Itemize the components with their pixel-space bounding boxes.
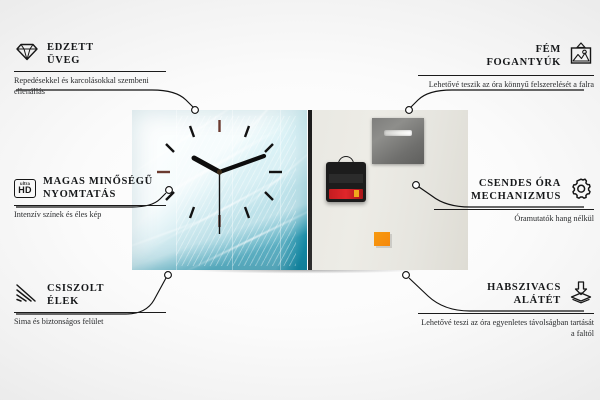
clock-mechanism-part [326,162,366,202]
feature-title-line2: ALÁTÉT [514,295,561,306]
feature-description: Repedésekkel és karcolásokkal szembeni e… [14,76,166,97]
feature-foam-backing: HABSZIVACS ALÁTÉT Lehetővé teszi az óra … [418,280,594,339]
feature-high-quality-print: ultra HD MAGAS MINŐSÉGŰ NYOMTATÁS Intenz… [14,176,166,221]
feature-tempered-glass: EDZETT ÜVEG Repedésekkel és karcolásokka… [14,42,166,97]
arrow-down-layers-icon [568,280,594,309]
feature-description: Intenzív színek és éles kép [14,210,166,221]
product-shadow [136,270,472,279]
feature-polished-edges: CSISZOLT ÉLEK Sima és biztonságos felüle… [14,283,166,328]
metal-hanger-part [372,118,424,164]
feature-description: Sima és biztonságos felület [14,317,166,328]
feature-description: Lehetővé teszik az óra könnyű felszerelé… [418,80,594,91]
feature-title-line2: ÉLEK [47,296,79,307]
divider [14,312,166,313]
feature-description: Lehetővé teszi az óra egyenletes távolsá… [418,318,594,339]
hanging-picture-icon [568,42,594,71]
feature-title-line1: CSENDES ÓRA [479,178,561,189]
infographic-canvas: EDZETT ÜVEG Repedésekkel és karcolásokka… [0,0,600,400]
product-image [132,110,468,270]
clock-hands [194,156,264,234]
diamond-icon [14,42,40,67]
feature-title-line1: HABSZIVACS [487,282,561,293]
diagonal-lines-icon [14,283,40,308]
mechanism-loop [338,156,354,164]
foam-pad-part [374,232,390,246]
ultra-hd-large-text: HD [18,186,32,195]
gear-icon [568,176,594,205]
ultra-hd-icon: ultra HD [14,179,36,198]
connector-handles [411,90,584,107]
feature-description: Óramutatók hang nélkül [434,214,594,225]
mechanism-band [329,174,363,183]
feature-metal-handles: FÉM FOGANTYÚK Lehetővé teszik az óra kön… [418,42,594,91]
feature-title-line1: EDZETT [47,42,94,53]
feature-silent-mechanism: CSENDES ÓRA MECHANIZMUS Óramutatók hang … [434,176,594,225]
divider [434,209,594,210]
feature-title-line1: MAGAS MINŐSÉGŰ [43,176,153,187]
divider [14,71,166,72]
feature-title-line2: FOGANTYÚK [486,57,561,68]
divider [418,313,594,314]
feature-title-line2: NYOMTATÁS [43,189,116,200]
divider [14,205,166,206]
feature-title-line2: ÜVEG [47,55,80,66]
feature-title-line2: MECHANIZMUS [471,191,561,202]
feature-title-line1: CSISZOLT [47,283,104,294]
divider [418,75,594,76]
battery-part [329,189,363,199]
feature-title-line1: FÉM [536,44,561,55]
